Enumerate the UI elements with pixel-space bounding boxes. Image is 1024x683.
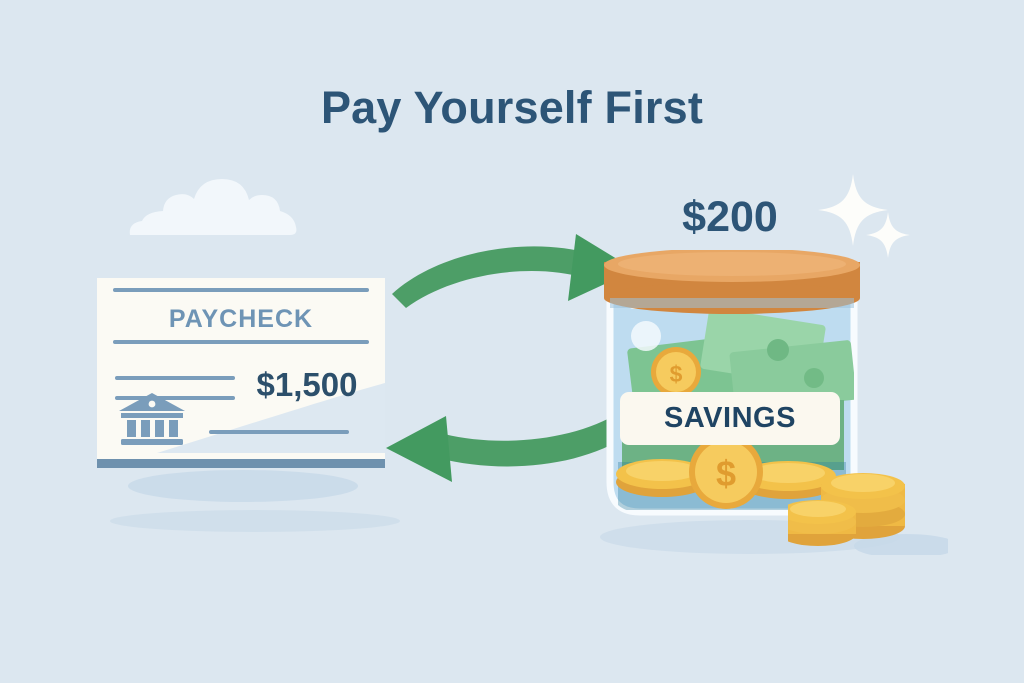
check-rule-top	[113, 288, 369, 292]
check-rule-under-label	[113, 340, 369, 344]
infographic-canvas: Pay Yourself First PAYCHECK $1,500	[0, 0, 1024, 683]
coin-stack-short	[788, 500, 856, 546]
sparkle-small-icon	[866, 212, 910, 258]
jar-amount-label: $200	[600, 193, 860, 242]
check-shadow-secondary	[110, 510, 400, 532]
paycheck-card: PAYCHECK $1,500	[97, 278, 385, 468]
svg-text:$: $	[670, 361, 683, 387]
check-amount: $1,500	[237, 366, 377, 404]
page-title: Pay Yourself First	[0, 82, 1024, 134]
cloud-decoration	[120, 175, 300, 237]
check-label: PAYCHECK	[97, 305, 385, 334]
svg-text:$: $	[716, 453, 736, 494]
check-rule-line-1	[115, 376, 235, 380]
coin-stack-group	[788, 450, 948, 555]
savings-label: SAVINGS	[620, 392, 840, 445]
check-rule-signature	[209, 430, 349, 434]
check-shadow	[128, 470, 358, 502]
jar-coin-upper: $	[651, 347, 701, 397]
bank-building-icon	[117, 391, 187, 447]
